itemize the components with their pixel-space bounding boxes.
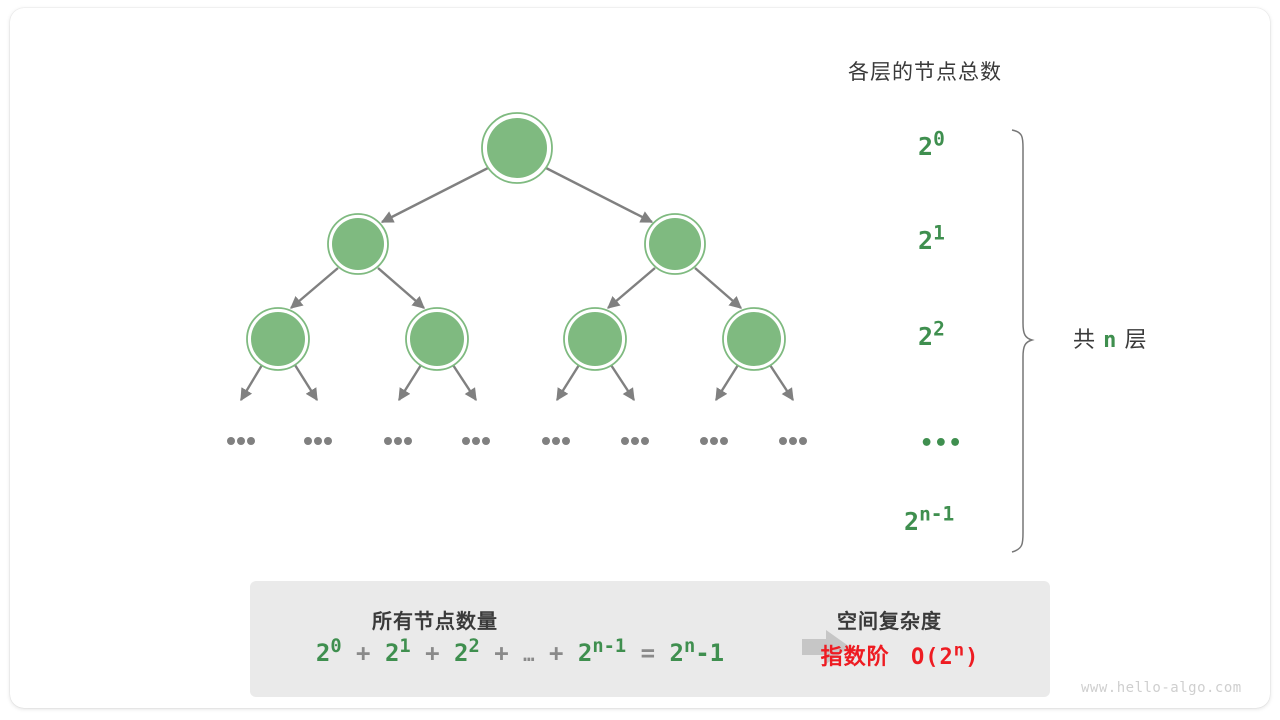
tree-nodes [247,113,785,370]
tree-node [406,308,468,370]
tree-node [328,214,388,274]
formula-term-last: 2n-1 [578,639,626,667]
ellipsis-dots [700,437,728,445]
level-count-last: 2n-1 [904,509,954,534]
formula-plus: + [494,639,508,667]
tree-node [247,308,309,370]
ellipsis-dots [621,437,649,445]
formula-term-0: 20 [316,639,342,667]
level-count-0: 20 [918,134,945,159]
complexity-title: 空间复杂度 [837,605,942,634]
formula-equals: = [641,639,655,667]
levels-title: 各层的节点总数 [848,56,1002,86]
total-levels-count: n [1103,328,1117,353]
level-count-1: 21 [918,228,945,253]
summary-box: 所有节点数量 20 + 21 + 22 + … + 2n-1 = 2n-1 空间… [250,581,1050,697]
diagram-stage: 20 21 22 ••• 2n-1 各层的节点总数 共 n 层 所有节点数量 2… [10,8,1270,708]
formula-plus: + [425,639,439,667]
ellipsis-dots [542,437,570,445]
watermark: www.hello-algo.com [1081,680,1242,696]
total-levels-label: 共 n 层 [1073,322,1148,354]
ellipsis-dots [304,437,332,445]
complexity-order-label: 指数阶 [821,644,890,669]
tree-node [723,308,785,370]
ellipsis-dots [462,437,490,445]
ellipsis-dots [384,437,412,445]
total-levels-suffix: 层 [1125,327,1148,352]
formula-ellipsis: … [523,644,534,666]
levels-brace [1012,130,1032,552]
formula-plus: + [549,639,563,667]
nodes-total-formula: 20 + 21 + 22 + … + 2n-1 = 2n-1 [290,639,750,667]
total-levels-prefix: 共 [1073,327,1096,352]
formula-term-2: 22 [454,639,480,667]
formula-result: 2n-1 [670,639,725,667]
tree-node [645,214,705,274]
leaf-ellipsis-row [227,437,807,445]
tree-edges-level3 [241,365,793,400]
formula-plus: + [356,639,370,667]
tree-node [564,308,626,370]
ellipsis-dots [227,437,255,445]
ellipsis-dots [779,437,807,445]
level-count-ellipsis: ••• [920,429,963,455]
level-count-2: 22 [918,324,945,349]
tree-node-root [482,113,552,183]
complexity-value: 指数阶 O(2n) [770,639,1030,671]
diagram-card: 20 21 22 ••• 2n-1 各层的节点总数 共 n 层 所有节点数量 2… [10,8,1270,708]
formula-term-1: 21 [385,639,411,667]
complexity-big-o: O(2n) [897,645,980,670]
nodes-total-title: 所有节点数量 [372,605,498,634]
